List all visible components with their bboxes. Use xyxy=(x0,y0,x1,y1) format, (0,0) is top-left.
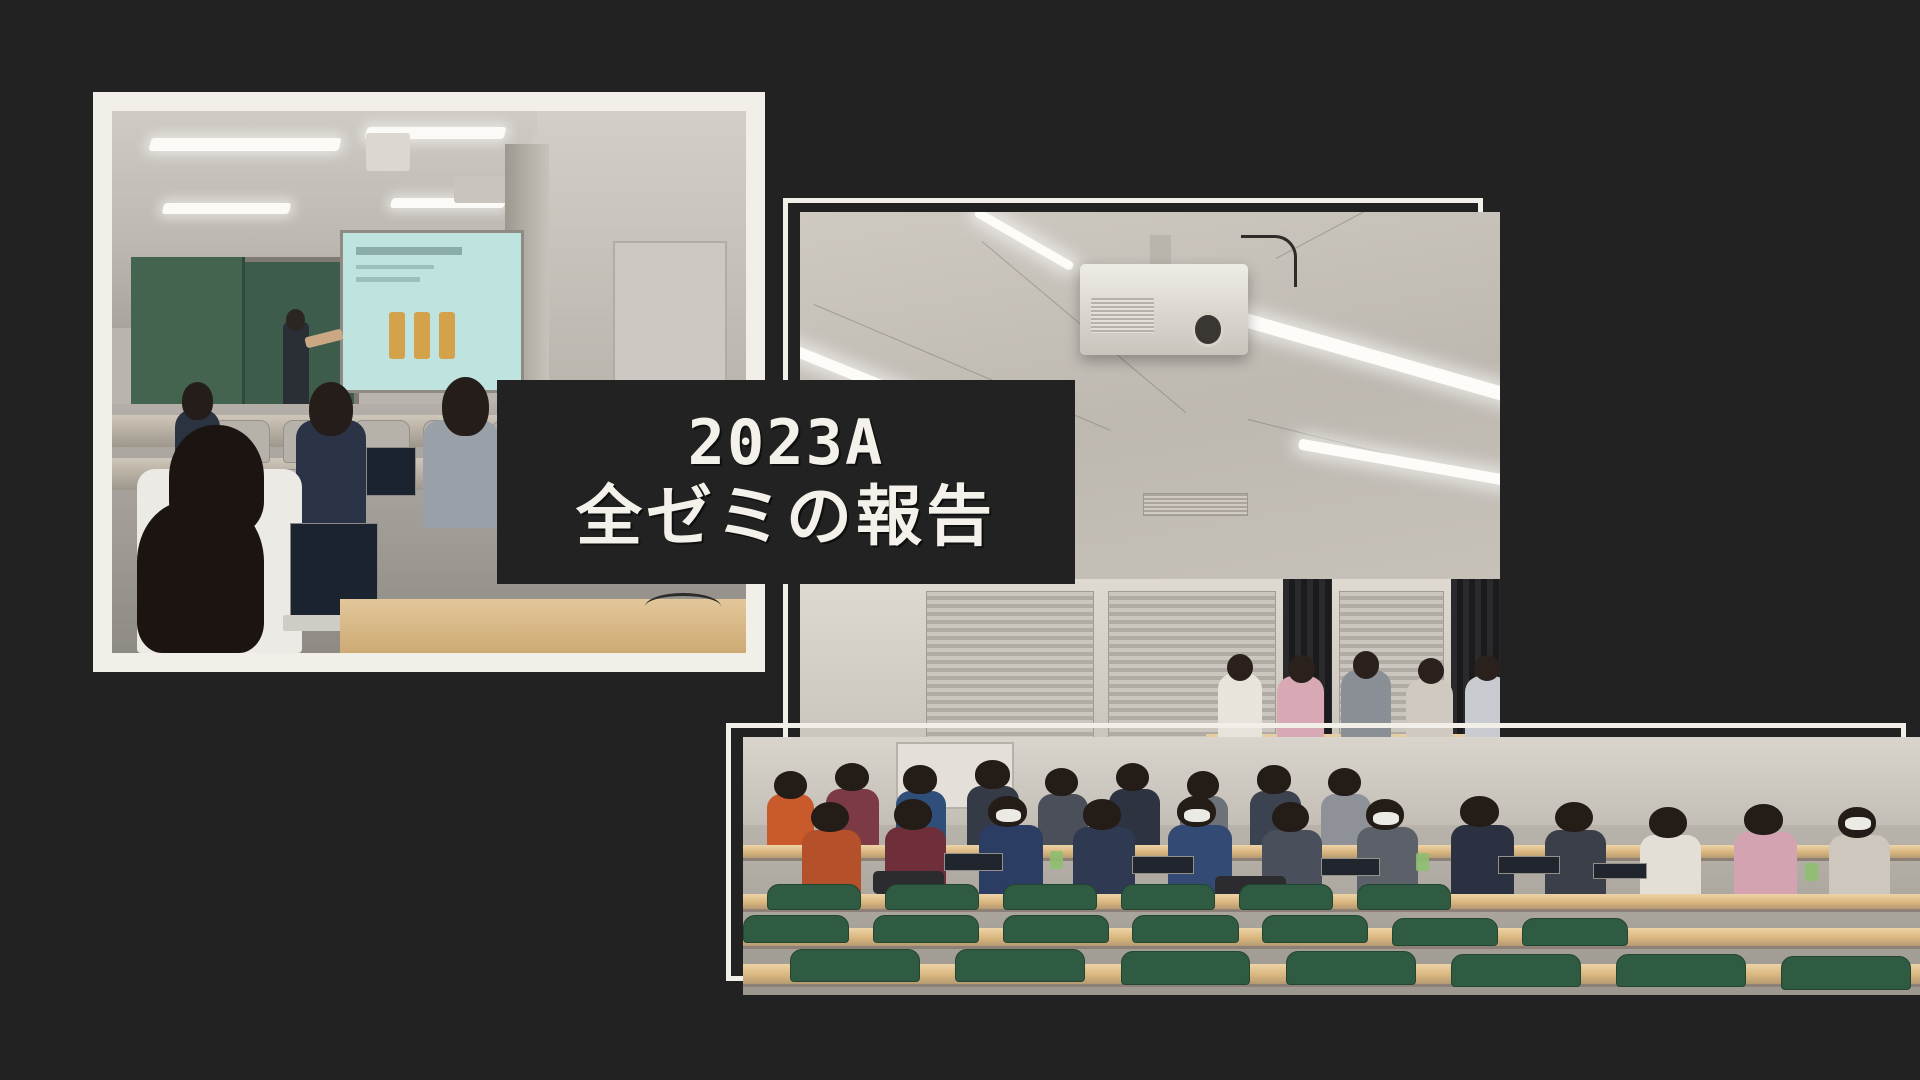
photo-classroom-students-image xyxy=(743,737,1920,995)
ceiling-projector-icon xyxy=(366,133,410,171)
projector-lens-icon xyxy=(1192,312,1224,346)
projection-screen xyxy=(340,230,524,393)
title-card: 2023A 全ゼミの報告 xyxy=(497,380,1075,584)
ceiling-vent-icon xyxy=(1143,493,1248,516)
photo-classroom-students xyxy=(743,737,1920,995)
title-main-heading: 全ゼミの報告 xyxy=(576,478,996,556)
slide-canvas: 2023A 全ゼミの報告 xyxy=(0,0,1920,1080)
projector-cable xyxy=(1241,235,1297,287)
title-year-term: 2023A xyxy=(688,408,885,477)
